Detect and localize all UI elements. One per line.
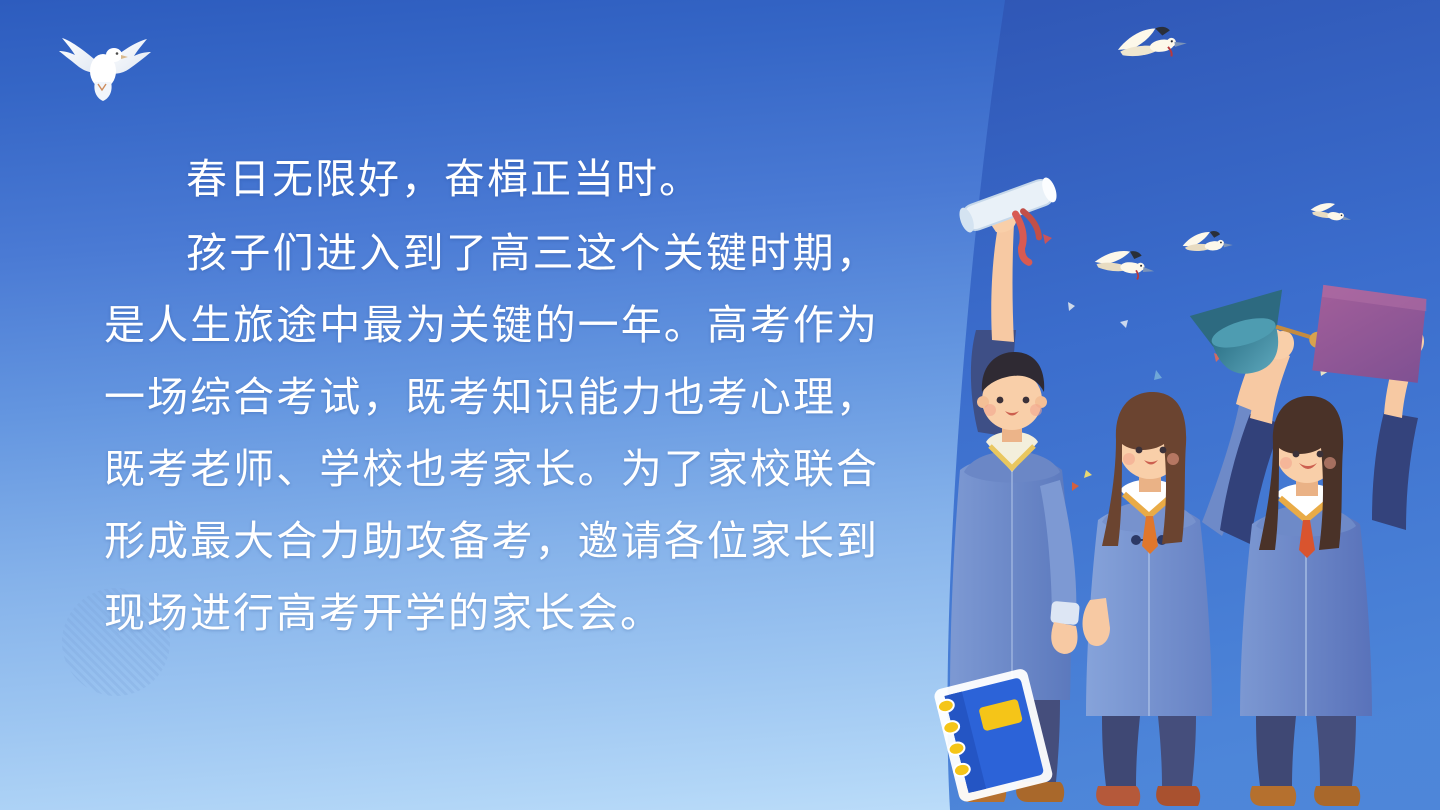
graduate-middle	[1083, 329, 1285, 806]
graduate-right	[1220, 329, 1424, 806]
spiral-notebook-icon	[933, 667, 1054, 803]
crane-group	[1093, 24, 1353, 281]
dove-icon	[52, 24, 156, 106]
confetti-group	[1043, 234, 1329, 536]
graduation-illustration	[920, 0, 1440, 810]
slide-body-paragraph: 孩子们进入到了高三这个关键时期，是人生旅途中最为关键的一年。高考作为一场综合考试…	[104, 217, 879, 649]
graduate-left	[950, 176, 1080, 802]
slide-text-block: 春日无限好，奋楫正当时。 孩子们进入到了高三这个关键时期，是人生旅途中最为关键的…	[104, 143, 879, 649]
slide-canvas: 春日无限好，奋楫正当时。 孩子们进入到了高三这个关键时期，是人生旅途中最为关键的…	[0, 0, 1440, 810]
certificate-board	[1308, 281, 1432, 389]
graduation-cap-icon	[1190, 282, 1329, 385]
slide-title-line: 春日无限好，奋楫正当时。	[104, 143, 879, 215]
